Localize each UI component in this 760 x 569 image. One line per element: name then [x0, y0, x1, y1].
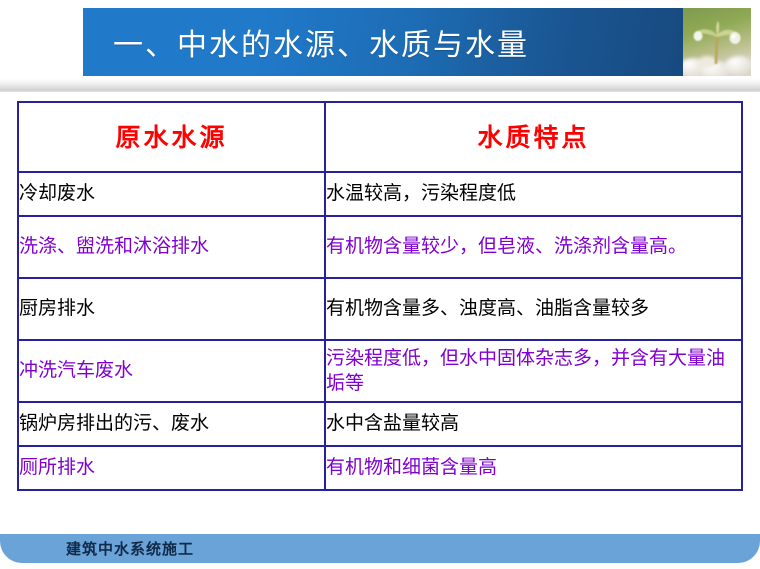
seedling-photo	[683, 8, 751, 76]
column-header-quality: 水质特点	[325, 102, 742, 172]
cell-source: 冲洗汽车废水	[18, 340, 325, 402]
column-header-source: 原水水源	[18, 102, 325, 172]
cell-quality: 水温较高，污染程度低	[325, 172, 742, 216]
table-header-row: 原水水源 水质特点	[18, 102, 742, 172]
table-row: 冷却废水 水温较高，污染程度低	[18, 172, 742, 216]
cell-quality: 水中含盐量较高	[325, 402, 742, 446]
cell-source: 冷却废水	[18, 172, 325, 216]
header-divider-rule	[0, 78, 760, 92]
water-source-quality-table: 原水水源 水质特点 冷却废水 水温较高，污染程度低 洗涤、盥洗和沐浴排水 有机物…	[17, 101, 743, 491]
cell-quality: 污染程度低，但水中固体杂志多，并含有大量油垢等	[325, 340, 742, 402]
table-row: 锅炉房排出的污、废水 水中含盐量较高	[18, 402, 742, 446]
table-row: 冲洗汽车废水 污染程度低，但水中固体杂志多，并含有大量油垢等	[18, 340, 742, 402]
table-row: 厕所排水 有机物和细菌含量高	[18, 446, 742, 490]
cell-source: 洗涤、盥洗和沐浴排水	[18, 216, 325, 278]
seedling-with-dew-image	[683, 8, 751, 76]
footer-label: 建筑中水系统施工	[66, 538, 194, 559]
table-row: 厨房排水 有机物含量多、浊度高、油脂含量较多	[18, 278, 742, 340]
footer-bar: 建筑中水系统施工	[0, 534, 760, 563]
cell-source: 锅炉房排出的污、废水	[18, 402, 325, 446]
slide-title: 一、中水的水源、水质与水量	[113, 20, 529, 64]
cell-source: 厕所排水	[18, 446, 325, 490]
cell-quality: 有机物含量较少，但皂液、洗涤剂含量高。	[325, 216, 742, 278]
cell-quality: 有机物和细菌含量高	[325, 446, 742, 490]
cell-source: 厨房排水	[18, 278, 325, 340]
slide-title-banner: 一、中水的水源、水质与水量	[83, 8, 683, 76]
cell-quality: 有机物含量多、浊度高、油脂含量较多	[325, 278, 742, 340]
table-row: 洗涤、盥洗和沐浴排水 有机物含量较少，但皂液、洗涤剂含量高。	[18, 216, 742, 278]
